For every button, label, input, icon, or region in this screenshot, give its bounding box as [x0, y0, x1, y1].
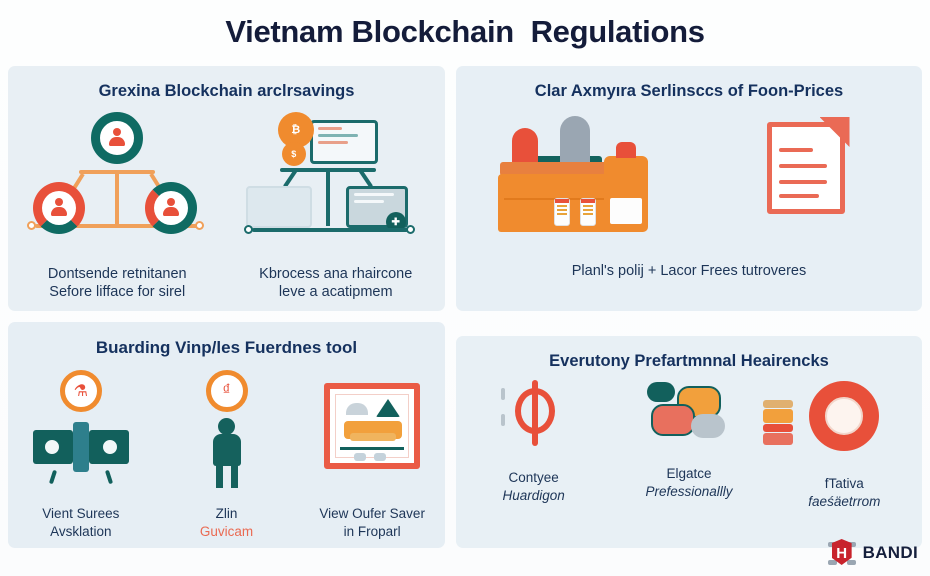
document-icon: [767, 122, 845, 214]
cell-dollar: Contyee Huardigon: [456, 380, 611, 527]
coin-badge-small-icon: $: [282, 142, 306, 166]
ornate-frame: [324, 383, 420, 469]
people-network-diagram: [17, 112, 217, 240]
caption-line-1: Kbrocess ana rhaircone: [259, 266, 412, 282]
caption-line-1: Contyee: [509, 470, 559, 485]
logo-brand-text: BANDI: [863, 543, 918, 563]
panel-bottom-right-heading: Everutony Prefartmnnal Heairencks: [456, 352, 922, 371]
food-wheel-illustration: [789, 380, 899, 452]
page-title: Vietnam Blockchain Regulations: [0, 14, 930, 50]
caption-line-2: Prefessionallly: [645, 483, 732, 500]
panel-top-left: Grexina Blockchain arclrsavings: [8, 66, 445, 311]
network-node-left: [33, 182, 85, 234]
machine-badge-illustration: ⚗: [26, 370, 136, 482]
cell-food-wheel: fTativa faeśäetrrom: [767, 380, 922, 527]
framed-landscape-illustration: [317, 370, 427, 482]
logo-letter: H: [828, 538, 856, 568]
chat-bubble-grey: [691, 414, 725, 438]
network-node-top: [91, 112, 143, 164]
product-jar-icon: [554, 198, 570, 226]
devices-network-diagram: ₿ $: [236, 112, 436, 240]
caption-line-2: Sefore lifface for sirel: [48, 283, 187, 302]
chat-bubble-teal: [647, 382, 675, 402]
caption-line-1: Zlin: [216, 506, 238, 521]
caption-line-1: Elgatce: [666, 466, 711, 481]
caption-line-2: Guvicam: [200, 523, 253, 540]
panel-top-right-heading: Clar Axmyıra Serlinsccs of Foon-Prices: [456, 82, 922, 101]
person-icon: [107, 128, 127, 148]
caption-line-2: faeśäetrrom: [808, 493, 880, 510]
cell-market-stall: [456, 122, 689, 232]
cell-caption: Elgatce Prefessionallly: [645, 448, 732, 517]
product-jar-icon: [580, 198, 596, 226]
panel-grid: Grexina Blockchain arclrsavings: [8, 66, 922, 566]
person-badge-illustration: ₫: [172, 370, 282, 482]
caption-line-2: leve a acatipmem: [259, 283, 412, 302]
monitor-icon: [310, 120, 378, 164]
brand-logo: H BANDI: [828, 538, 918, 568]
cell-bubbles: Elgatce Prefessionallly: [611, 380, 766, 527]
bottle-icon: [604, 156, 648, 232]
caption-line-2: Huardigon: [503, 487, 565, 504]
network-node-right: [145, 182, 197, 234]
cell-machine-badge: ⚗ Vient Surees Avsklati: [8, 370, 154, 548]
person-icon: [161, 198, 181, 218]
market-stall-illustration: [498, 122, 648, 232]
cell-devices-network: ₿ $: [227, 112, 446, 311]
food-wheel-icon: [809, 381, 879, 451]
food-bubble-red: [651, 404, 695, 436]
cell-caption: Kbrocess ana rhaircone leve a acatipmem: [259, 246, 412, 311]
panel-top-left-heading: Grexina Blockchain arclrsavings: [8, 82, 445, 101]
panel-bottom-right: Everutony Prefartmnnal Heairencks Contye…: [456, 336, 922, 548]
panel-bottom-left-heading: Buarding Vinp/les Fuerdnes tool: [8, 338, 445, 358]
certificate-badge-icon: ₫: [206, 370, 248, 412]
caption-line-2: Avsklation: [42, 523, 119, 540]
caption-line-1: fTativa: [825, 476, 864, 491]
caption-line-1: Vient Surees: [42, 506, 119, 521]
cell-document: [689, 122, 922, 232]
cell-caption: Zlin Guvicam: [200, 488, 253, 548]
panel-top-right-caption: Planl's polij + Lacor Frees tutroveres: [456, 262, 922, 281]
cell-caption: View Oufer Saver in Froparl: [319, 488, 425, 548]
caption-line-2: in Froparl: [319, 523, 425, 540]
cell-people-network: Dontsende retnitanen Sefore lifface for …: [8, 112, 227, 311]
cell-caption: Vient Surees Avsklation: [42, 488, 119, 548]
chat-food-bubbles-icon: [647, 380, 731, 442]
cell-caption: Contyee Huardigon: [503, 452, 565, 521]
person-figure: [207, 418, 247, 488]
award-badge-icon: ⚗: [60, 370, 102, 412]
shield-h-logo-icon: H: [828, 538, 856, 568]
cell-person-badge: ₫ Zlin Guvicam: [154, 370, 300, 548]
dollar-symbol-icon: [501, 380, 567, 446]
laptop-icon: [246, 186, 312, 228]
panel-bottom-left: Buarding Vinp/les Fuerdnes tool ⚗: [8, 322, 445, 548]
caption-line-1: View Oufer Saver: [319, 506, 425, 521]
infographic-page: Vietnam Blockchain Regulations Grexina B…: [0, 0, 930, 576]
panel-top-right: Clar Axmyıra Serlinsccs of Foon-Prices: [456, 66, 922, 311]
cell-framed-landscape: View Oufer Saver in Froparl: [299, 370, 445, 548]
jar-stack-icon: [763, 400, 793, 446]
cell-caption: fTativa faeśäetrrom: [808, 458, 880, 527]
person-icon: [49, 198, 69, 218]
caption-line-1: Dontsende retnitanen: [48, 266, 187, 282]
cell-caption: Dontsende retnitanen Sefore lifface for …: [48, 246, 187, 311]
